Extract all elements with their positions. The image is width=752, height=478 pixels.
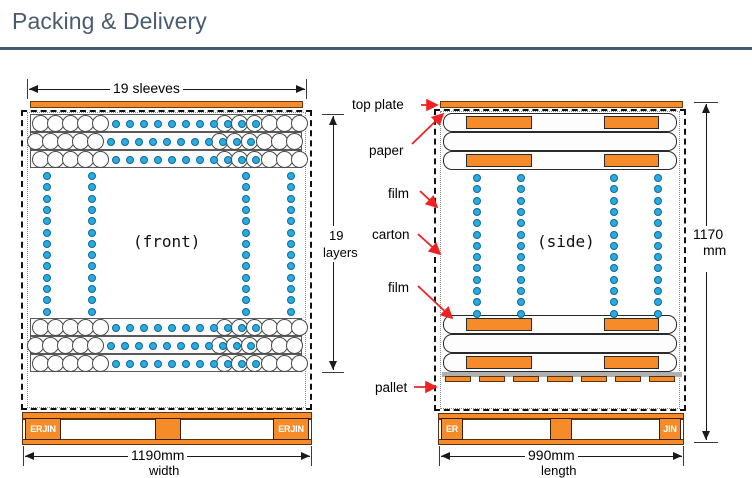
front-width-tick-left <box>23 446 24 466</box>
annotation-label-pallet: pallet <box>375 380 407 395</box>
pallet-slat <box>445 376 471 382</box>
annotation-label-carton: carton <box>372 227 410 242</box>
side-length-arrow-left <box>441 452 450 460</box>
front-width-arrow-right <box>301 452 310 460</box>
side-height-line-upper <box>706 104 707 226</box>
side-height-arrow-up <box>702 104 710 113</box>
annotation-label-film-top: film <box>388 186 409 201</box>
side-height-unit: mm <box>700 242 729 258</box>
side-length-label: 990mm <box>525 447 578 463</box>
side-length-sublabel: length <box>538 463 579 478</box>
side-pallet-foot-left: ER <box>441 418 463 440</box>
side-height-tick-top <box>694 102 718 103</box>
pallet-slat <box>479 376 505 382</box>
front-width-tick-right <box>311 446 312 466</box>
side-height-tick-bot <box>694 442 718 443</box>
pallet-slat <box>649 376 675 382</box>
side-length-tick-left <box>439 446 440 466</box>
front-width-label: 1190mm <box>128 447 187 463</box>
packing-diagram: 19 sleeves (front) 19 layers <box>0 50 752 445</box>
pallet-slat <box>581 376 607 382</box>
pallet-slat <box>615 376 641 382</box>
annotation-label-paper: paper <box>369 143 404 158</box>
pallet-slat <box>513 376 539 382</box>
front-width-arrow-left <box>25 452 34 460</box>
front-width-sublabel: width <box>146 463 182 478</box>
page-title: Packing & Delivery <box>12 8 207 35</box>
annotation-label-film-bottom: film <box>388 280 409 295</box>
annotation-label-top-plate: top plate <box>352 97 404 112</box>
side-height-value: 1170 <box>690 226 726 242</box>
side-length-arrow-right <box>673 452 682 460</box>
side-length-tick-right <box>683 446 684 466</box>
pallet-slat <box>547 376 573 382</box>
side-height-arrow-down <box>702 431 710 440</box>
side-pallet-foot-center <box>550 418 572 440</box>
side-height-line-lower <box>706 272 707 440</box>
side-pallet-foot-right: JIN <box>659 418 681 440</box>
